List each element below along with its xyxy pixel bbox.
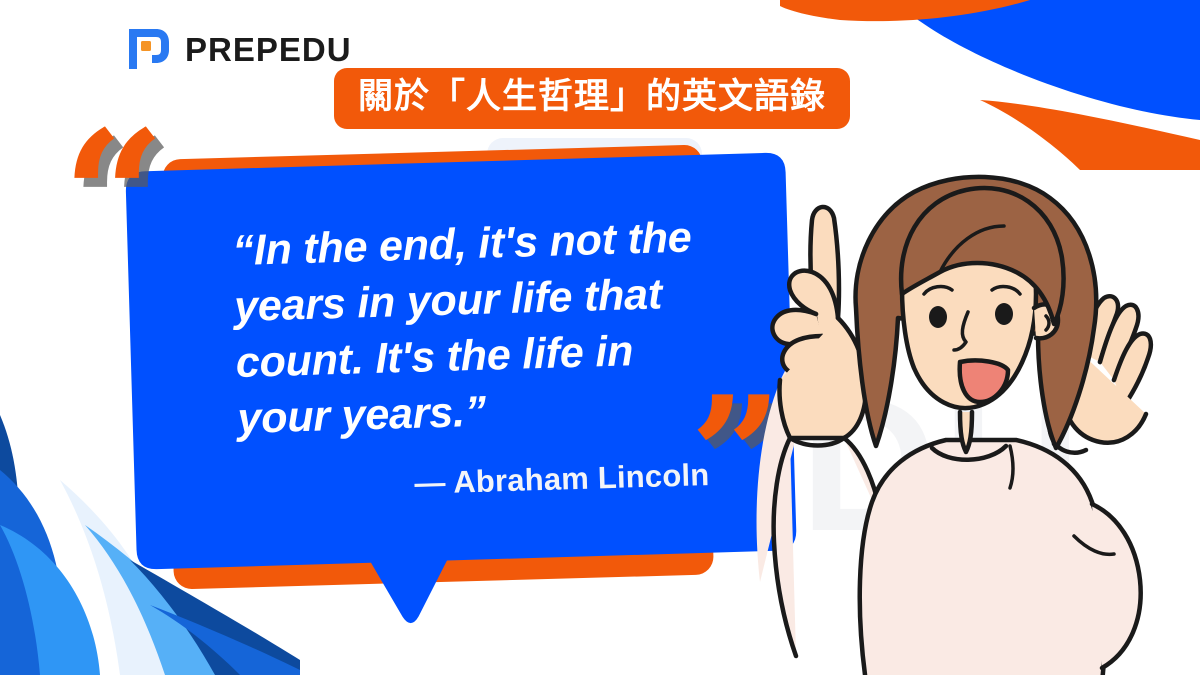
poster-canvas: PREPEDU “In the end, it's not the years … bbox=[0, 0, 1200, 675]
smiling-woman-pointing-up-illustration bbox=[716, 112, 1200, 675]
brand-logo-wordmark: PREPEDU bbox=[185, 33, 352, 66]
quote-content: “In the end, it's not the years in your … bbox=[124, 156, 756, 574]
prepedu-bracket-logo-icon bbox=[126, 26, 172, 72]
quote-text: “In the end, it's not the years in your … bbox=[232, 210, 708, 447]
quote-author: — Abraham Lincoln bbox=[239, 457, 710, 507]
woman-figure bbox=[716, 112, 1200, 675]
brand-logo: PREPEDU bbox=[126, 26, 352, 72]
open-quote-icon: “ bbox=[62, 108, 166, 288]
